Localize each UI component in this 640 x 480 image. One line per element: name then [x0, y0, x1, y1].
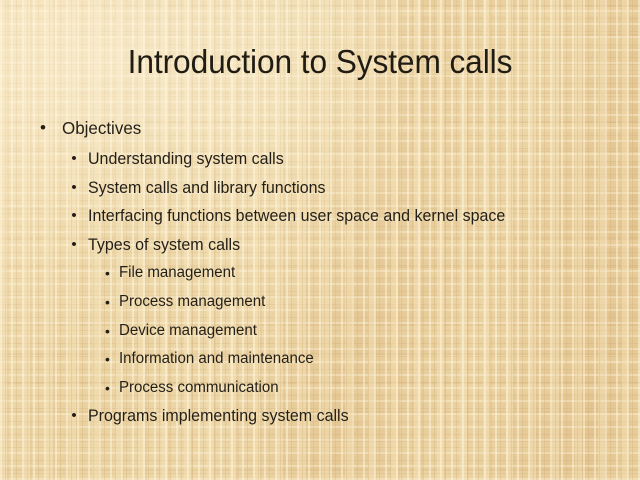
slide-title: Introduction to System calls: [13, 42, 627, 82]
outline-item-process-communication: • Process communication: [0, 375, 640, 404]
outline-item-label: File management: [119, 260, 235, 286]
outline-item-label: Device management: [119, 318, 257, 344]
bullet-icon: •: [68, 403, 80, 429]
bullet-icon: •: [68, 175, 80, 201]
bullet-icon: •: [68, 203, 80, 229]
bullet-icon: •: [68, 232, 80, 258]
outline-item-label: Process management: [119, 289, 265, 315]
outline-item-understanding-system-calls: • Understanding system calls: [0, 146, 640, 175]
bullet-icon: •: [102, 289, 113, 315]
outline-item-device-management: • Device management: [0, 318, 640, 347]
bullet-icon: •: [102, 346, 113, 372]
outline-item-objectives: • Objectives: [0, 115, 640, 144]
bullet-icon: •: [36, 115, 50, 141]
outline-item-types-of-system-calls: • Types of system calls: [0, 232, 640, 261]
slide-body-outline: • Objectives • Understanding system call…: [0, 115, 640, 432]
outline-item-label: Understanding system calls: [88, 146, 284, 172]
outline-item-label: Interfacing functions between user space…: [88, 203, 505, 229]
outline-item-file-management: • File management: [0, 260, 640, 289]
bullet-icon: •: [102, 318, 113, 344]
outline-item-process-management: • Process management: [0, 289, 640, 318]
outline-item-system-calls-and-library-functions: • System calls and library functions: [0, 175, 640, 204]
outline-item-programs-implementing-system-calls: • Programs implementing system calls: [0, 403, 640, 432]
bullet-icon: •: [68, 146, 80, 172]
outline-item-information-and-maintenance: • Information and maintenance: [0, 346, 640, 375]
bullet-icon: •: [102, 375, 113, 401]
outline-item-label: Objectives: [62, 115, 141, 141]
outline-item-label: System calls and library functions: [88, 175, 326, 201]
outline-item-label: Types of system calls: [88, 232, 240, 258]
presentation-slide: Introduction to System calls • Objective…: [0, 0, 640, 480]
outline-item-interfacing-functions: • Interfacing functions between user spa…: [0, 203, 640, 232]
bullet-icon: •: [102, 260, 113, 286]
outline-item-label: Process communication: [119, 375, 279, 401]
outline-item-label: Information and maintenance: [119, 346, 314, 372]
outline-item-label: Programs implementing system calls: [88, 403, 349, 429]
